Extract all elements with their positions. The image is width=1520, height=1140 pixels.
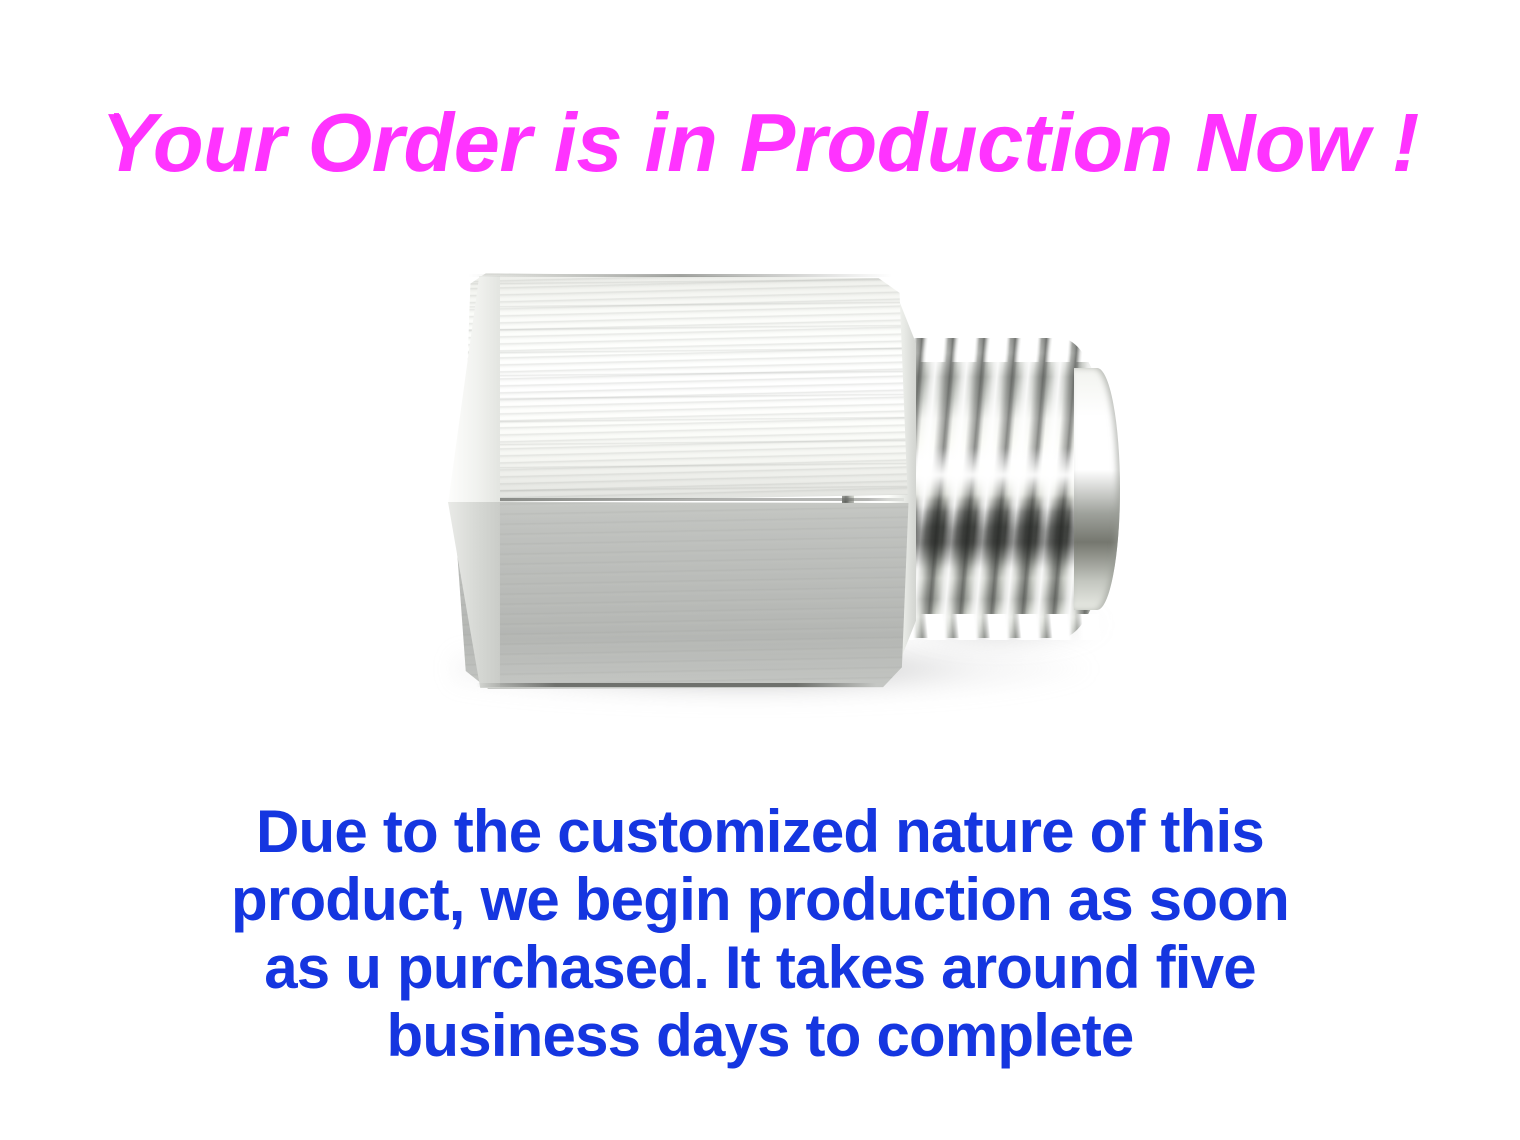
- hex-bottom-machining-lines: [446, 500, 916, 690]
- thread-end-cap: [1074, 368, 1120, 610]
- product-photo-inner: [410, 250, 1170, 780]
- promo-banner: Your Order is in Production Now !: [0, 0, 1520, 1140]
- notice-line-4: business days to complete: [0, 1002, 1520, 1070]
- production-notice: Due to the customized nature of this pro…: [0, 798, 1520, 1070]
- notice-line-1: Due to the customized nature of this: [0, 798, 1520, 866]
- magenta-pixel-artifact: [114, 113, 119, 118]
- hex-top-edge: [468, 274, 892, 277]
- hex-bottom-edge: [476, 683, 876, 687]
- hex-top-machining-lines-coarse: [446, 272, 916, 504]
- notice-line-3: as u purchased. It takes around five: [0, 934, 1520, 1002]
- product-photo: [0, 250, 1520, 780]
- notice-line-2: product, we begin production as soon: [0, 866, 1520, 934]
- hex-body: [446, 272, 916, 686]
- page-title: Your Order is in Production Now !: [0, 95, 1520, 190]
- hex-facet-seam: [456, 498, 904, 501]
